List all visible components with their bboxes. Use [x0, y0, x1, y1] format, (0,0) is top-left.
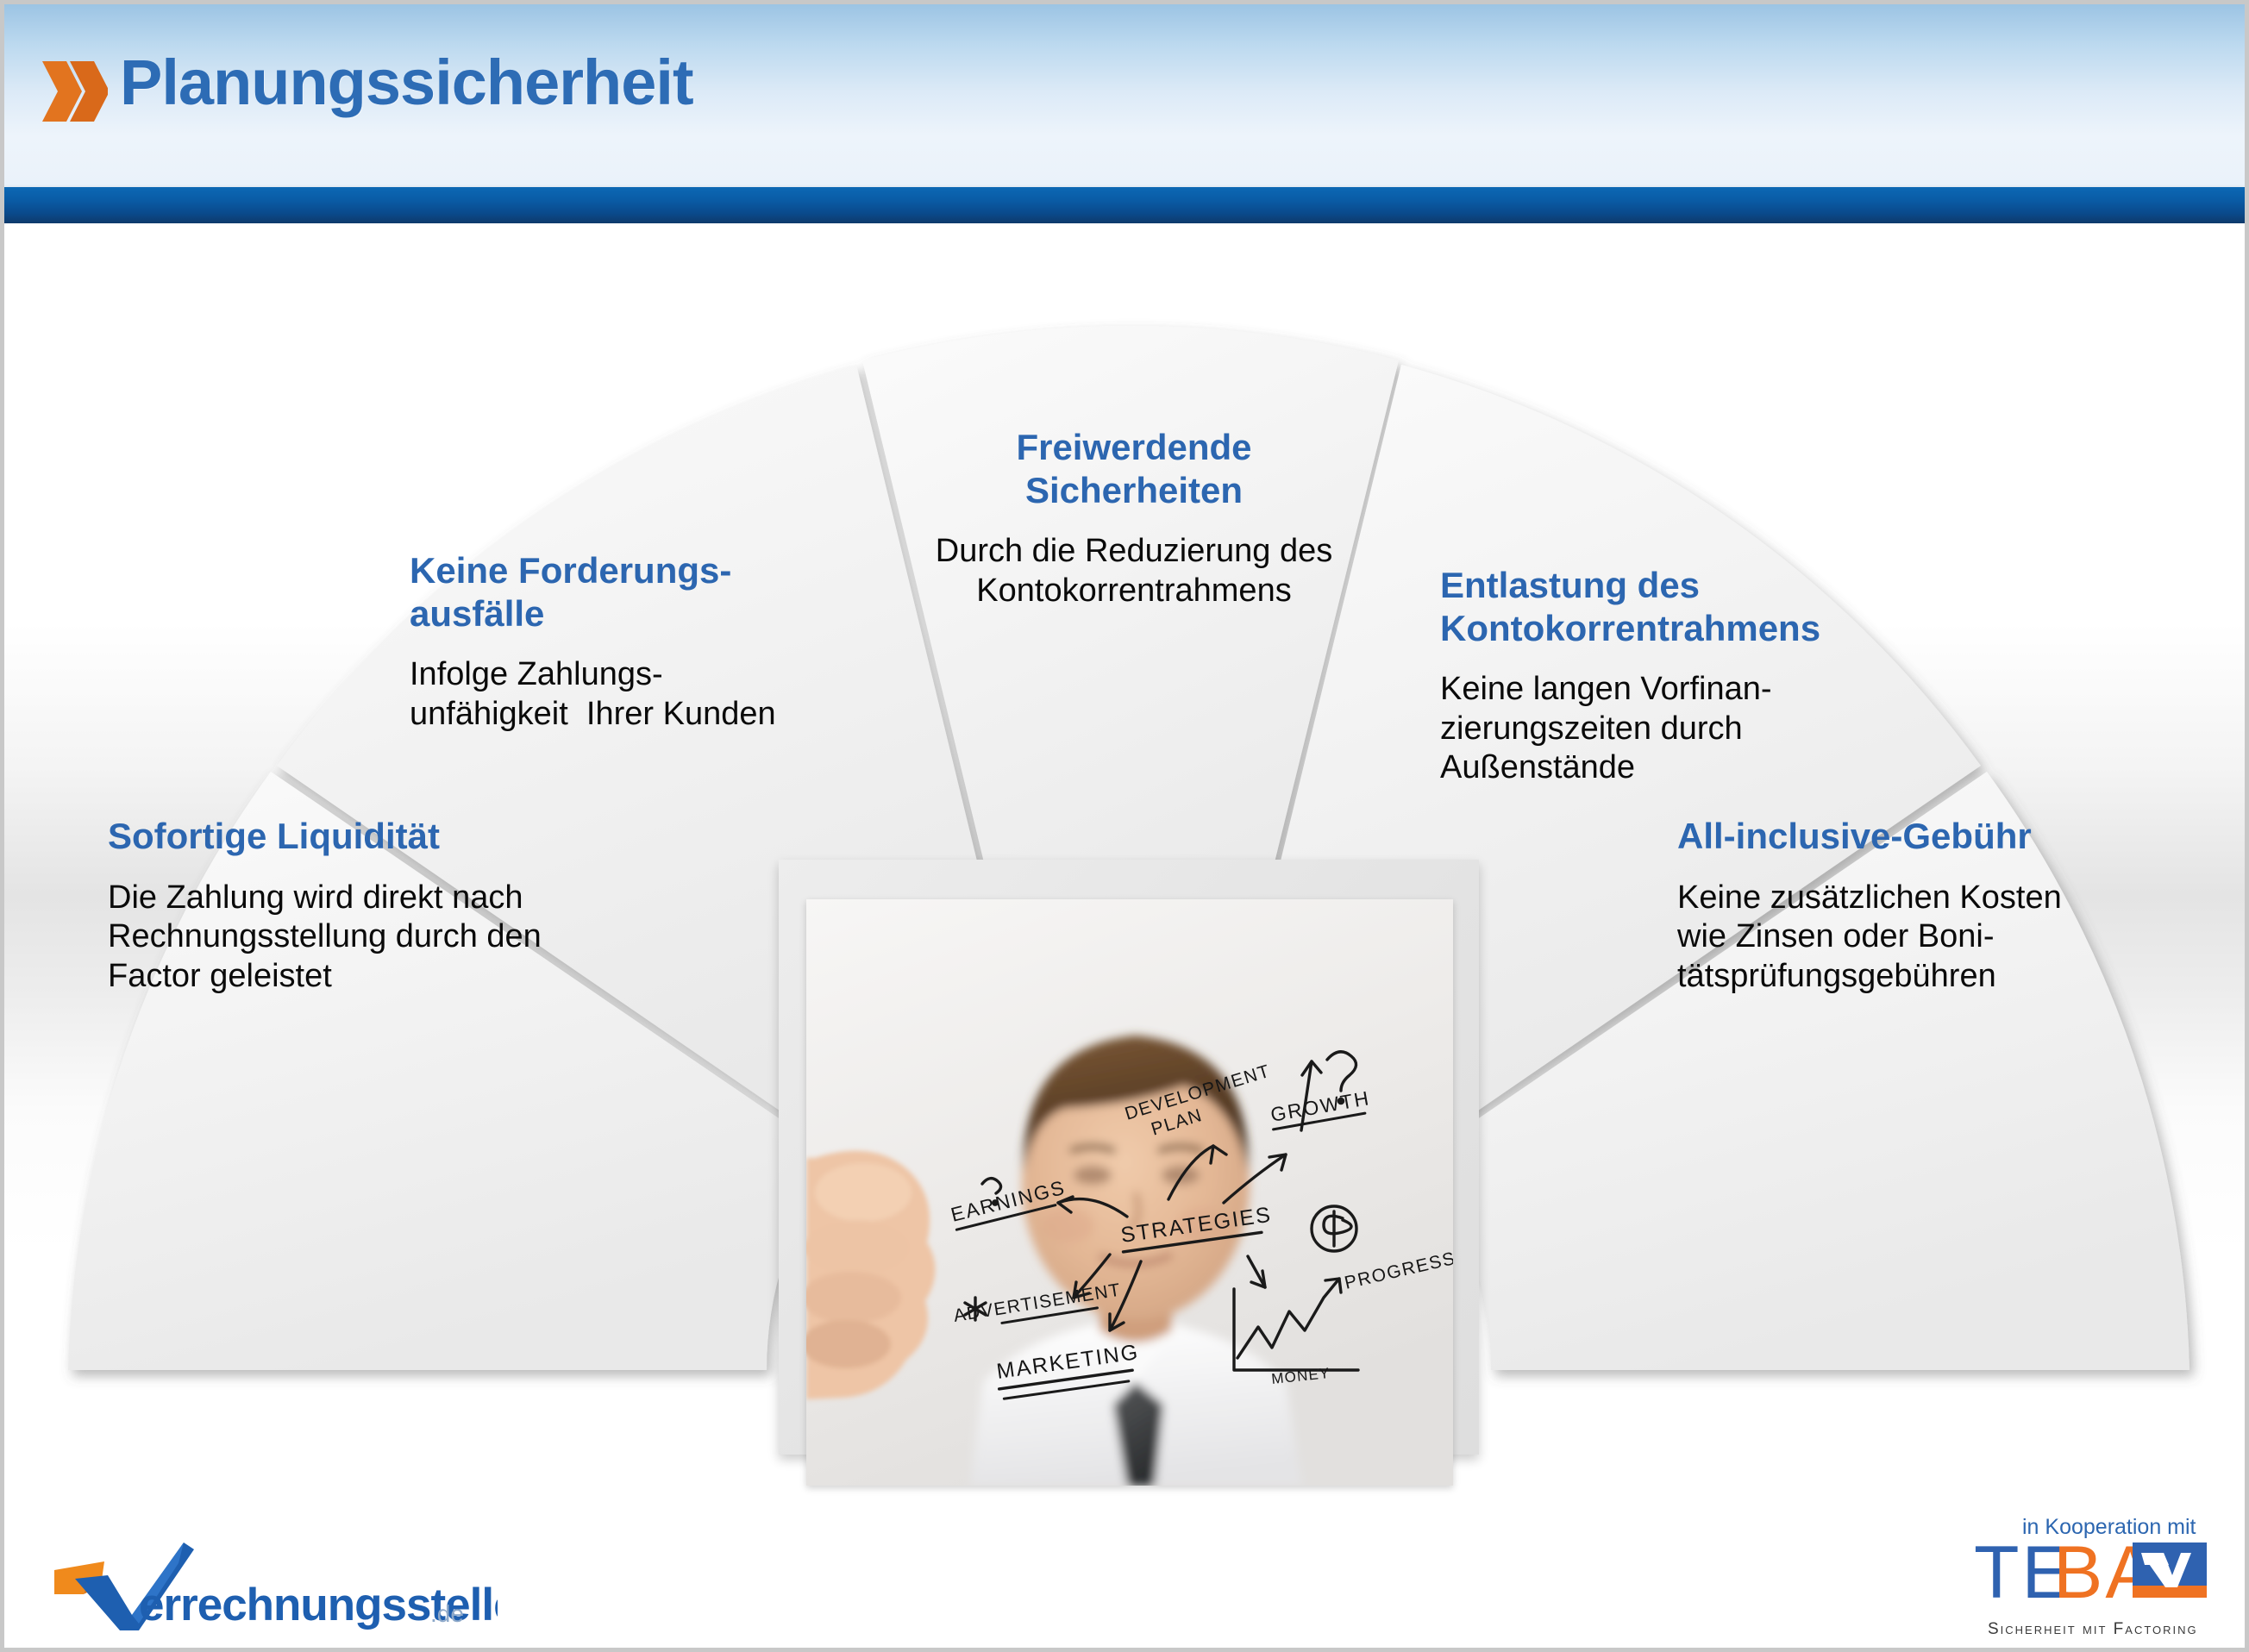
segment-heading: Entlastung des Kontokorrentrahmens — [1440, 564, 1975, 649]
fan-text-sofortige-liquiditaet: Sofortige Liquidität Die Zahlung wird di… — [108, 815, 660, 996]
fan-text-keine-forderungsausfaelle: Keine Forderungs- ausfälle Infolge Zahlu… — [410, 549, 893, 734]
segment-body: Infolge Zahlungs- unfähigkeit Ihrer Kund… — [410, 655, 893, 734]
segment-heading: Sofortige Liquidität — [108, 815, 660, 858]
header-accent-bar — [4, 187, 2245, 223]
fan-text-freiwerdende-sicherheiten: Freiwerdende Sicherheiten Durch die Redu… — [854, 426, 1414, 610]
page-title: Planungssicherheit — [120, 46, 693, 119]
teba-tagline: Sicherheit mit Factoring — [1988, 1620, 2198, 1639]
segment-heading: Freiwerdende Sicherheiten — [854, 426, 1414, 511]
segment-body: Durch die Reduzierung des Kontokorrentra… — [854, 532, 1414, 610]
double-chevron-right-icon — [41, 56, 108, 127]
verrechnungsstelle24-logo[interactable]: errechnungsstelle24 .de — [49, 1541, 498, 1637]
slide-canvas: Planungssicherheit — [0, 0, 2249, 1652]
segment-body: Keine zusätzlichen Kosten wie Zinsen ode… — [1677, 879, 2195, 997]
center-photo: DEVELOPMENT PLAN GROWTH EARNINGS — [806, 899, 1453, 1486]
segment-heading: Keine Forderungs- ausfälle — [410, 549, 893, 635]
segment-body: Die Zahlung wird direkt nach Rechnungsst… — [108, 879, 660, 997]
svg-text:.de: .de — [430, 1600, 464, 1627]
fan-text-entlastung-kontokorrentrahmens: Entlastung des Kontokorrentrahmens Keine… — [1440, 564, 1975, 788]
segment-heading: All-inclusive-Gebühr — [1677, 815, 2195, 858]
segment-body: Keine langen Vorfinan- zierungszeiten du… — [1440, 670, 1975, 788]
fan-text-all-inclusive-gebuehr: All-inclusive-Gebühr Keine zusätzlichen … — [1677, 815, 2195, 996]
